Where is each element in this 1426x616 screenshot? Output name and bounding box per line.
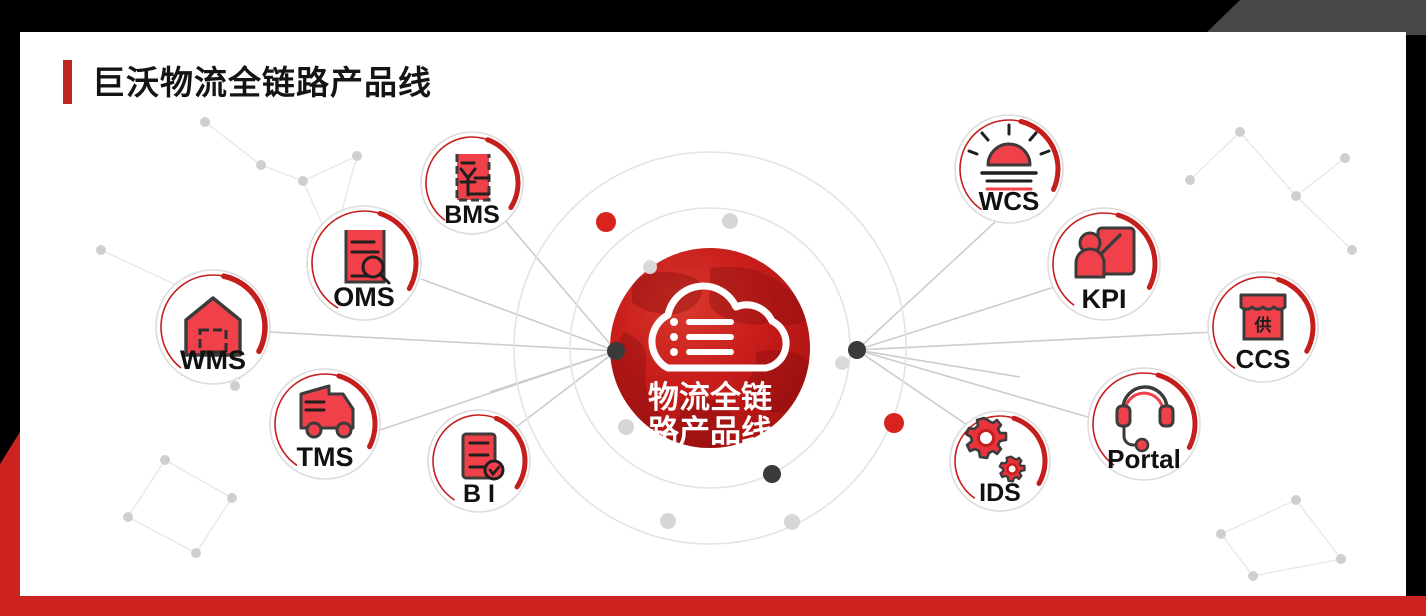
node-label-wms: WMS (180, 345, 246, 375)
corner-accent-topright (1150, 0, 1426, 35)
orbit-hub-dot-left (607, 342, 625, 360)
node-label-portal: Portal (1107, 444, 1181, 474)
orbit-dot-dark-bottom (763, 465, 781, 483)
node-ccs[interactable]: 供 CCS (1194, 258, 1333, 397)
orbit-dot-gray-top (722, 213, 738, 229)
node-bi[interactable]: B I (416, 398, 543, 525)
poster-canvas: 巨沃物流全链路产品线 (20, 32, 1406, 596)
connector-left-out (490, 351, 616, 392)
orbit-dot-gray-bottomleft (660, 513, 676, 529)
svg-text:供: 供 (1254, 315, 1272, 335)
connector-to-wcs (857, 222, 995, 350)
person-board-icon (1076, 228, 1134, 277)
node-kpi[interactable]: KPI (1033, 193, 1175, 335)
node-label-oms: OMS (333, 282, 395, 312)
orbit-hub-dot-right (848, 341, 866, 359)
connector-to-ccs (857, 332, 1214, 350)
orbit-dot-gray-bottomright (784, 514, 800, 530)
node-bms[interactable]: BMS (408, 119, 537, 248)
node-oms[interactable]: OMS (293, 192, 435, 334)
page-title: 巨沃物流全链路产品线 (63, 60, 432, 104)
node-label-bi: B I (463, 480, 495, 508)
connector-to-oms (421, 279, 616, 351)
hub-label-line2: 路产品线 (648, 414, 772, 449)
hub-label-line1: 物流全链 (648, 380, 772, 415)
document-search-icon (346, 230, 389, 283)
node-label-ids: IDS (979, 479, 1021, 507)
node-portal[interactable]: Portal (1073, 353, 1215, 495)
connector-to-kpi (857, 282, 1070, 350)
connector-to-wms (270, 332, 616, 351)
title-text: 巨沃物流全链路产品线 (92, 66, 432, 99)
storefront-gong-icon: 供 (1241, 295, 1285, 339)
node-tms[interactable]: TMS (256, 355, 395, 494)
orbit-dot-gray-upperleft (643, 260, 657, 274)
orbit-dot-gray-lowerleft (618, 419, 634, 435)
node-label-tms: TMS (297, 442, 354, 472)
orbit-dot-red-topleft (596, 212, 616, 232)
title-accent-bar (63, 60, 72, 104)
node-label-kpi: KPI (1081, 284, 1126, 314)
node-label-wcs: WCS (979, 186, 1040, 216)
hub-node[interactable]: 物流全链 路产品线 (606, 248, 818, 456)
orbit-dot-red-lowerright (884, 413, 904, 433)
node-label-ccs: CCS (1236, 344, 1291, 374)
node-wms[interactable]: WMS (140, 254, 286, 400)
invoice-yuan-icon (457, 154, 489, 200)
node-wcs[interactable]: WCS (941, 101, 1077, 237)
node-label-bms: BMS (444, 201, 500, 229)
poster-frame: 巨沃物流全链路产品线 (0, 0, 1426, 616)
orbit-dot-gray-right (835, 356, 849, 370)
product-line-network-diagram: 物流全链 路产品线 (20, 32, 1406, 596)
